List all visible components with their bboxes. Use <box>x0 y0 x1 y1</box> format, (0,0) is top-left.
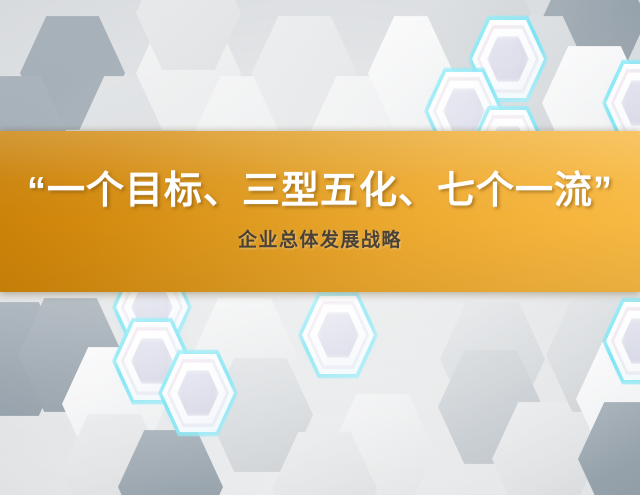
title-banner: “一个目标、三型五化、七个一流” 企业总体发展战略 <box>0 131 640 292</box>
slide-canvas: “一个目标、三型五化、七个一流” 企业总体发展战略 <box>0 0 640 495</box>
page-title: “一个目标、三型五化、七个一流” <box>27 171 613 212</box>
page-subtitle: 企业总体发展战略 <box>238 225 402 252</box>
